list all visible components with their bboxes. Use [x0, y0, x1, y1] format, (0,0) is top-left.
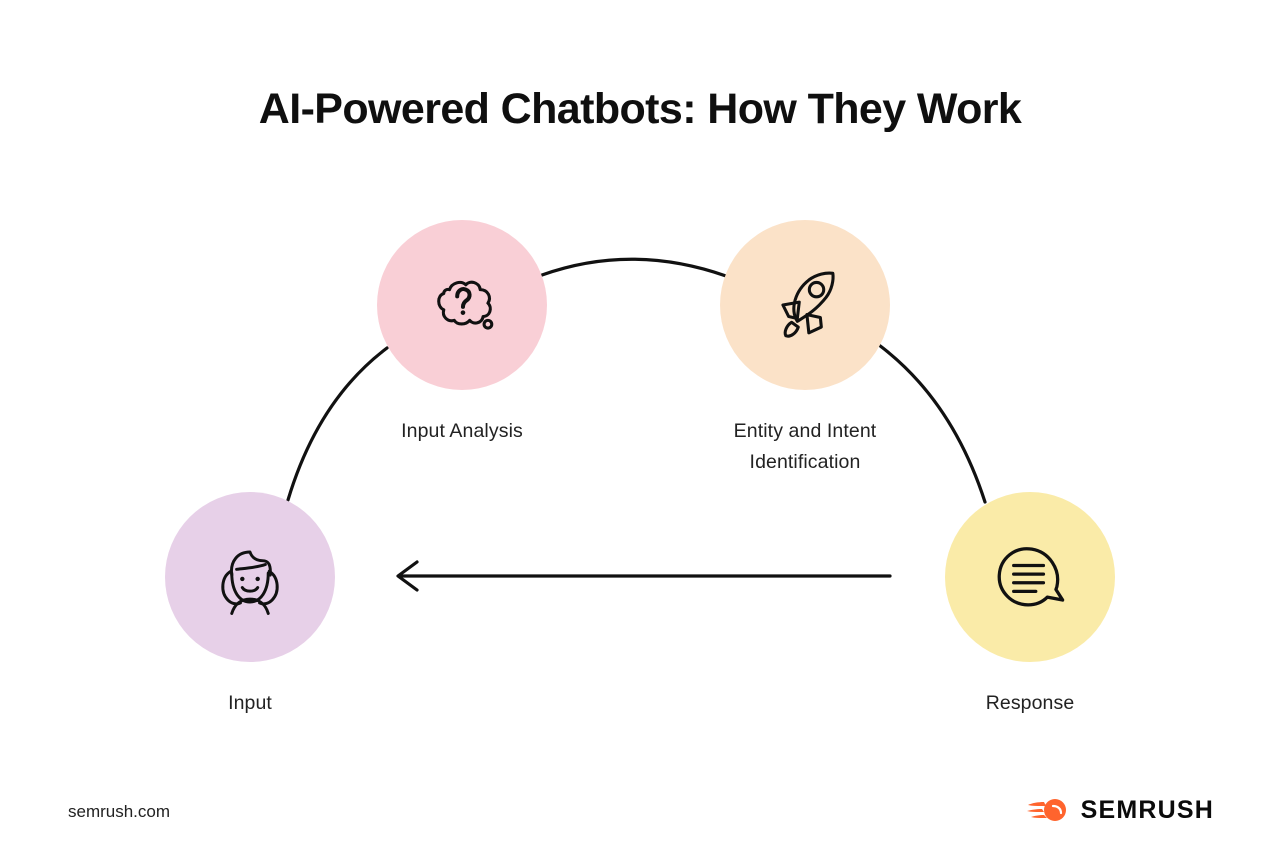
semrush-comet-icon: [1026, 795, 1070, 825]
node-response-circle[interactable]: [945, 492, 1115, 662]
node-entity-intent-label-line2: Identification: [640, 447, 970, 478]
person-face-icon: [202, 529, 298, 625]
footer-url: semrush.com: [68, 802, 170, 822]
node-input-circle[interactable]: [165, 492, 335, 662]
node-input-analysis-label: Input Analysis: [297, 416, 627, 447]
thought-bubble-question-icon: [414, 257, 510, 353]
node-input-label: Input: [85, 688, 415, 719]
semrush-logo: SEMRUSH: [1026, 795, 1214, 825]
node-input-analysis-circle[interactable]: [377, 220, 547, 390]
node-input-analysis[interactable]: Input Analysis: [377, 220, 547, 390]
node-response-label: Response: [865, 688, 1195, 719]
node-entity-intent-label: Entity and Intent Identification: [640, 416, 970, 478]
speech-bubble-lines-icon: [982, 529, 1078, 625]
node-input[interactable]: Input: [165, 492, 335, 662]
node-entity-intent[interactable]: Entity and Intent Identification: [720, 220, 890, 390]
connector-response-to-input: [398, 562, 890, 590]
rocket-icon: [757, 257, 853, 353]
node-entity-intent-circle[interactable]: [720, 220, 890, 390]
node-entity-intent-label-line1: Entity and Intent: [640, 416, 970, 447]
semrush-wordmark: SEMRUSH: [1081, 796, 1214, 825]
chatbot-flow-diagram: Input Input Analysis: [0, 0, 1280, 760]
node-response[interactable]: Response: [945, 492, 1115, 662]
connector-input-analysis-to-entity-intent: [542, 259, 726, 276]
